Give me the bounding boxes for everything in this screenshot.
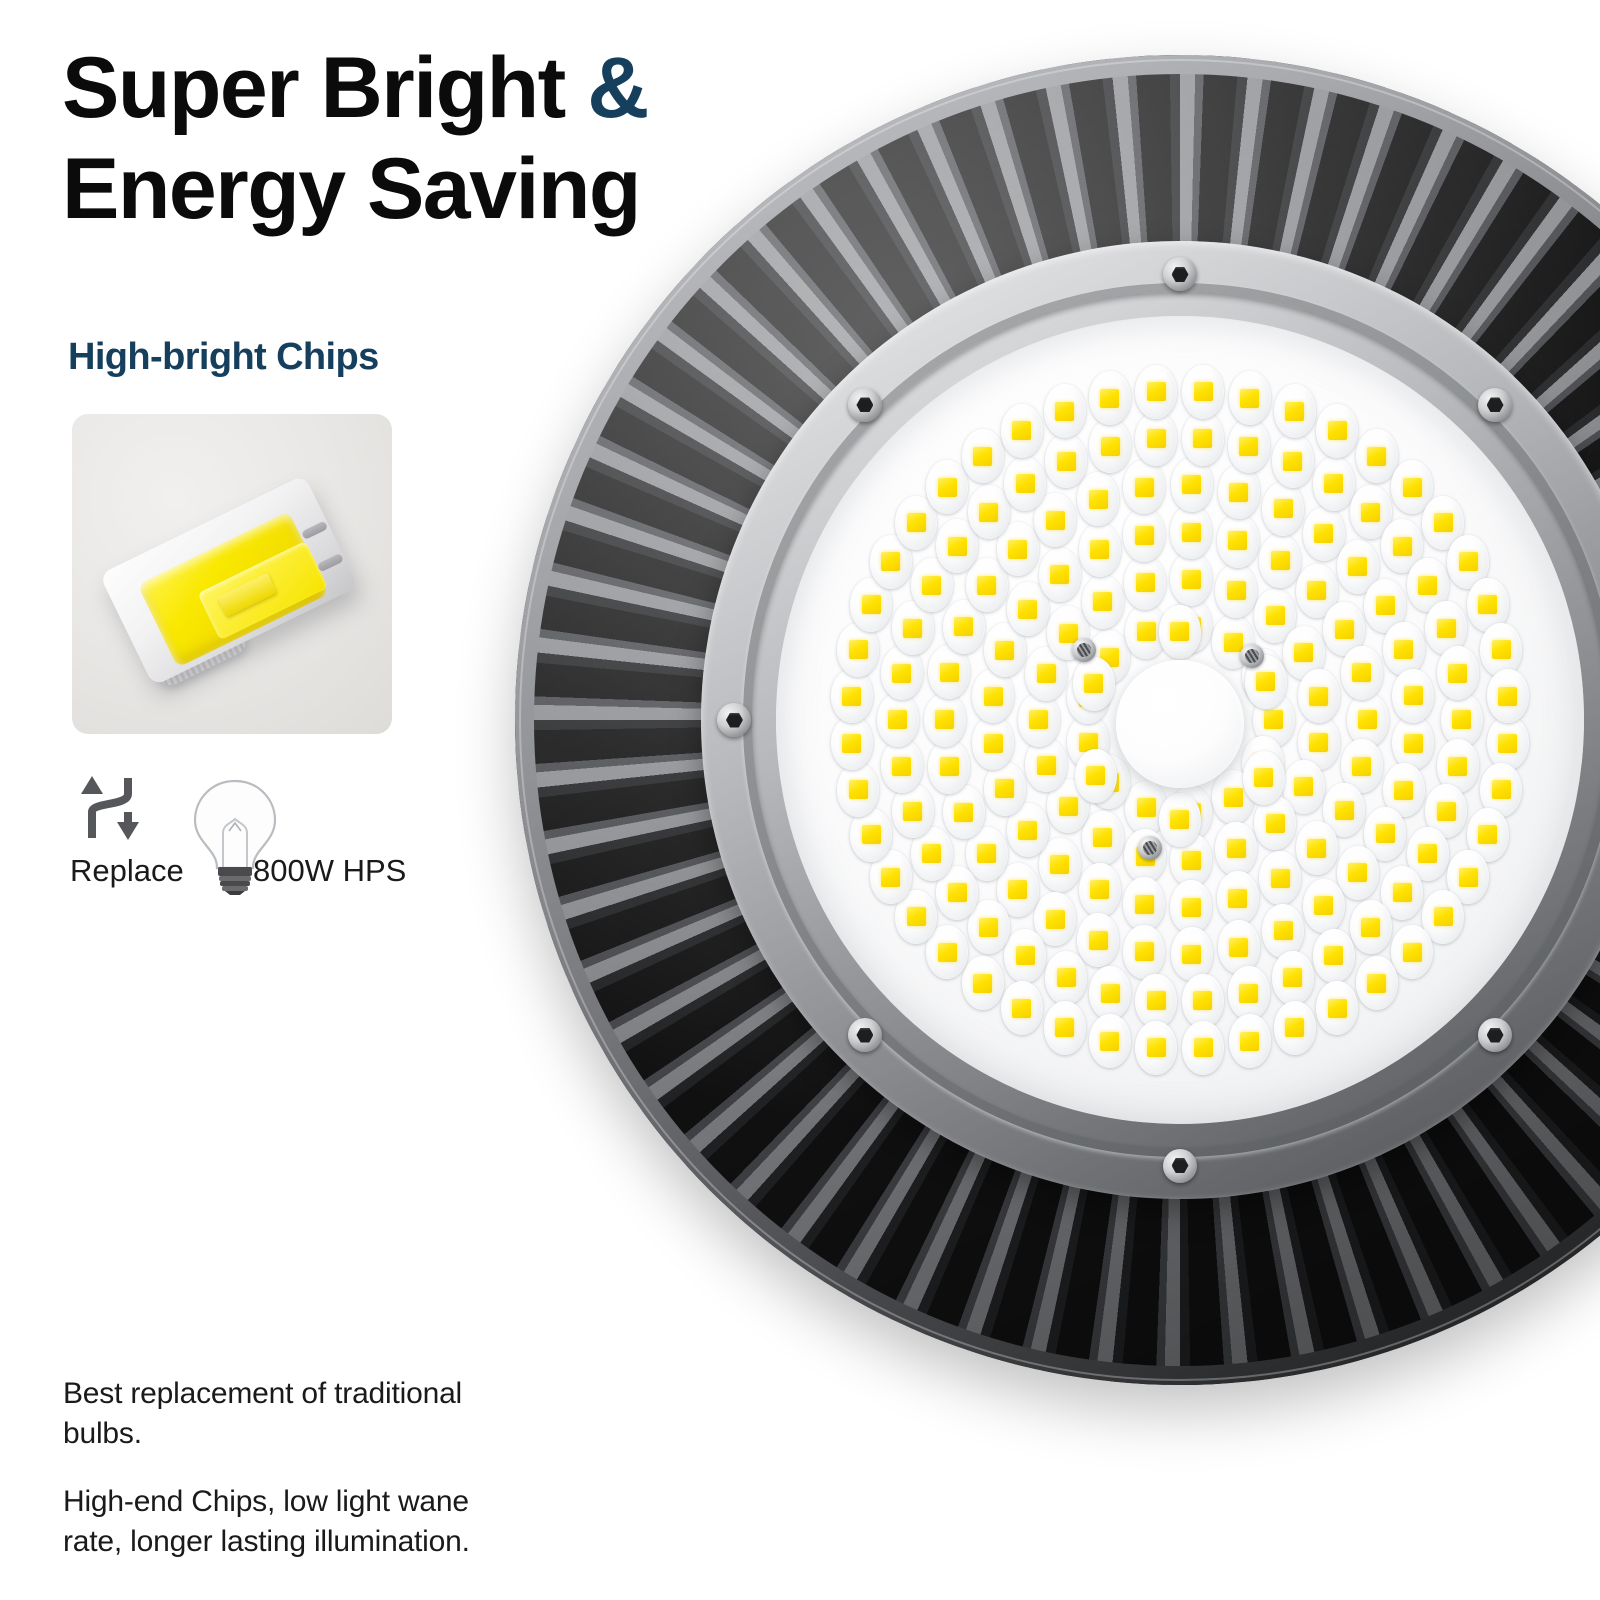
led-chip <box>1215 822 1257 876</box>
led-chip <box>1170 505 1212 559</box>
led-chip-image-tile <box>72 414 392 734</box>
chip-notch <box>301 521 328 540</box>
led-chip <box>1159 605 1201 659</box>
led-chip <box>1259 851 1301 905</box>
led-chip <box>1487 669 1529 723</box>
led-chip <box>1350 900 1392 954</box>
led-chip <box>926 460 968 514</box>
led-chip <box>1303 879 1345 933</box>
led-chip <box>1296 821 1338 875</box>
led-chip <box>1079 523 1121 577</box>
led-chip <box>1171 458 1213 512</box>
led-chip <box>1170 880 1212 934</box>
hex-screw <box>848 1018 882 1052</box>
led-chip <box>1383 622 1425 676</box>
led-chip <box>1159 793 1201 847</box>
led-chip <box>1001 981 1043 1035</box>
led-chip <box>1303 507 1345 561</box>
led-chip <box>984 762 1026 816</box>
led-chip <box>972 669 1014 723</box>
led-chip <box>1135 365 1177 419</box>
led-chip <box>1089 371 1131 425</box>
led-chip <box>1089 419 1131 473</box>
led-panel <box>776 316 1585 1125</box>
led-chip <box>924 693 966 747</box>
hex-screw <box>1478 388 1512 422</box>
led-chip <box>1004 457 1046 511</box>
led-chip <box>1018 693 1060 747</box>
hex-screw <box>848 388 882 422</box>
led-chip <box>1313 929 1355 983</box>
led-chip <box>1274 1001 1316 1055</box>
led-chip <box>1347 693 1389 747</box>
led-chip <box>1274 384 1316 438</box>
led-chip <box>1001 404 1043 458</box>
led-chip <box>1437 646 1479 700</box>
headline-line1-text: Super Bright <box>62 40 587 136</box>
led-chip <box>1170 552 1212 606</box>
led-chip <box>1337 846 1379 900</box>
led-chip <box>1123 925 1165 979</box>
replace-label: Replace <box>70 853 184 889</box>
led-chip-illustration <box>82 449 381 711</box>
led-chip <box>831 669 873 723</box>
led-chip <box>1123 508 1165 562</box>
swap-arrows-icon <box>78 768 142 842</box>
led-chip <box>1228 419 1270 473</box>
led-chip <box>1316 404 1358 458</box>
led-chip <box>831 716 873 770</box>
led-chip <box>1123 460 1165 514</box>
led-chip <box>1089 1014 1131 1068</box>
hex-screw <box>1163 1149 1197 1183</box>
led-chip <box>1298 669 1340 723</box>
led-chip <box>1089 966 1131 1020</box>
led-chip <box>1182 974 1224 1028</box>
panel-screw <box>1072 638 1096 662</box>
led-chip <box>1123 877 1165 931</box>
replace-target-label: 800W HPS <box>253 853 406 889</box>
led-chip <box>881 739 923 793</box>
led-chip <box>1272 434 1314 488</box>
led-chip <box>1077 913 1119 967</box>
led-chip <box>1182 365 1224 419</box>
led-chip <box>1044 384 1086 438</box>
panel-screw <box>1240 644 1264 668</box>
body-paragraph-1: Best replacement of traditional bulbs. <box>63 1374 483 1454</box>
led-chip <box>1272 951 1314 1005</box>
led-chip <box>1135 412 1177 466</box>
led-chip <box>1045 434 1087 488</box>
led-chip <box>968 485 1010 539</box>
led-chip <box>1356 956 1398 1010</box>
hex-screw <box>1478 1018 1512 1052</box>
led-chip <box>1259 534 1301 588</box>
led-chip <box>1487 716 1529 770</box>
led-chip <box>962 956 1004 1010</box>
led-chip <box>1313 457 1355 511</box>
led-chip <box>1262 904 1304 958</box>
led-chip <box>1316 981 1358 1035</box>
led-chip <box>1077 472 1119 526</box>
led-chip <box>962 429 1004 483</box>
led-chip <box>1392 716 1434 770</box>
led-chip <box>1039 548 1081 602</box>
led-chip <box>1229 1014 1271 1068</box>
led-chip <box>1218 465 1260 519</box>
led-chip <box>1171 927 1213 981</box>
led-chip <box>1045 951 1087 1005</box>
led-chip <box>1082 575 1124 629</box>
panel-screw <box>1138 836 1162 860</box>
led-chip <box>1079 863 1121 917</box>
led-chip <box>1082 811 1124 865</box>
led-chip <box>1262 482 1304 536</box>
led-chip <box>1182 412 1224 466</box>
led-chip <box>1392 669 1434 723</box>
body-paragraph-2: High-end Chips, low light wane rate, lon… <box>63 1482 533 1562</box>
led-chip <box>1391 925 1433 979</box>
led-chip <box>1044 1001 1086 1055</box>
led-chip <box>877 693 919 747</box>
led-chip <box>1135 1021 1177 1075</box>
led-chip <box>1229 371 1271 425</box>
led-chip <box>837 763 879 817</box>
led-chip <box>1356 429 1398 483</box>
chip-notch <box>317 553 344 572</box>
led-chip <box>1243 751 1285 805</box>
center-dome <box>1116 660 1244 788</box>
led-chip <box>1135 974 1177 1028</box>
led-chip <box>1182 1021 1224 1075</box>
led-chip <box>1228 966 1270 1020</box>
led-chip <box>1073 657 1115 711</box>
led-chip <box>1004 929 1046 983</box>
led-chip <box>1217 514 1259 568</box>
led-chip <box>1124 556 1166 610</box>
led-chip <box>1341 646 1383 700</box>
ufo-led-high-bay-light <box>515 55 1600 1385</box>
led-chip <box>1075 749 1117 803</box>
led-chip <box>1480 623 1522 677</box>
led-chip <box>1217 871 1259 925</box>
feature-subheading: High-bright Chips <box>68 336 379 379</box>
led-chip <box>1215 564 1257 618</box>
